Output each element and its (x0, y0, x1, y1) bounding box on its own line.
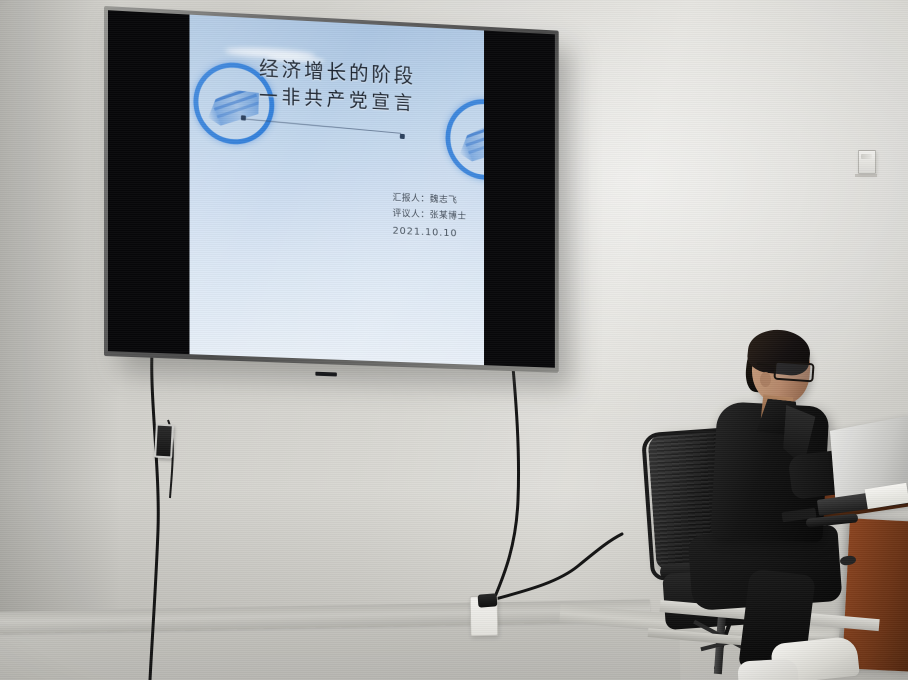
hdmi-adapter-dongle (154, 424, 174, 459)
eyeglasses-icon (773, 361, 814, 383)
tv-screen[interactable]: 经济增长的阶段 一非共产党宣言 汇报人：魏志飞 评议人：张某博士 2021.10… (108, 10, 555, 368)
pillarbox-right (484, 31, 555, 368)
slide-credits: 汇报人：魏志飞 评议人：张某博士 2021.10.10 (392, 191, 466, 243)
presentation-slide: 经济增长的阶段 一非共产党宣言 汇报人：魏志飞 评议人：张某博士 2021.10… (189, 15, 484, 366)
pillarbox-left (108, 10, 189, 354)
wall-switch[interactable] (858, 150, 876, 174)
person-ear (760, 372, 771, 387)
white-plastic-bag-2 (737, 658, 798, 680)
credit-date: 2021.10.10 (392, 222, 466, 242)
tv-brand-logo (316, 372, 337, 377)
wall-mounted-tv[interactable]: 经济增长的阶段 一非共产党宣言 汇报人：魏志飞 评议人：张某博士 2021.10… (104, 6, 559, 373)
power-plug (478, 593, 498, 607)
photo-scene: 经济增长的阶段 一非共产党宣言 汇报人：魏志飞 评议人：张某博士 2021.10… (0, 0, 908, 680)
